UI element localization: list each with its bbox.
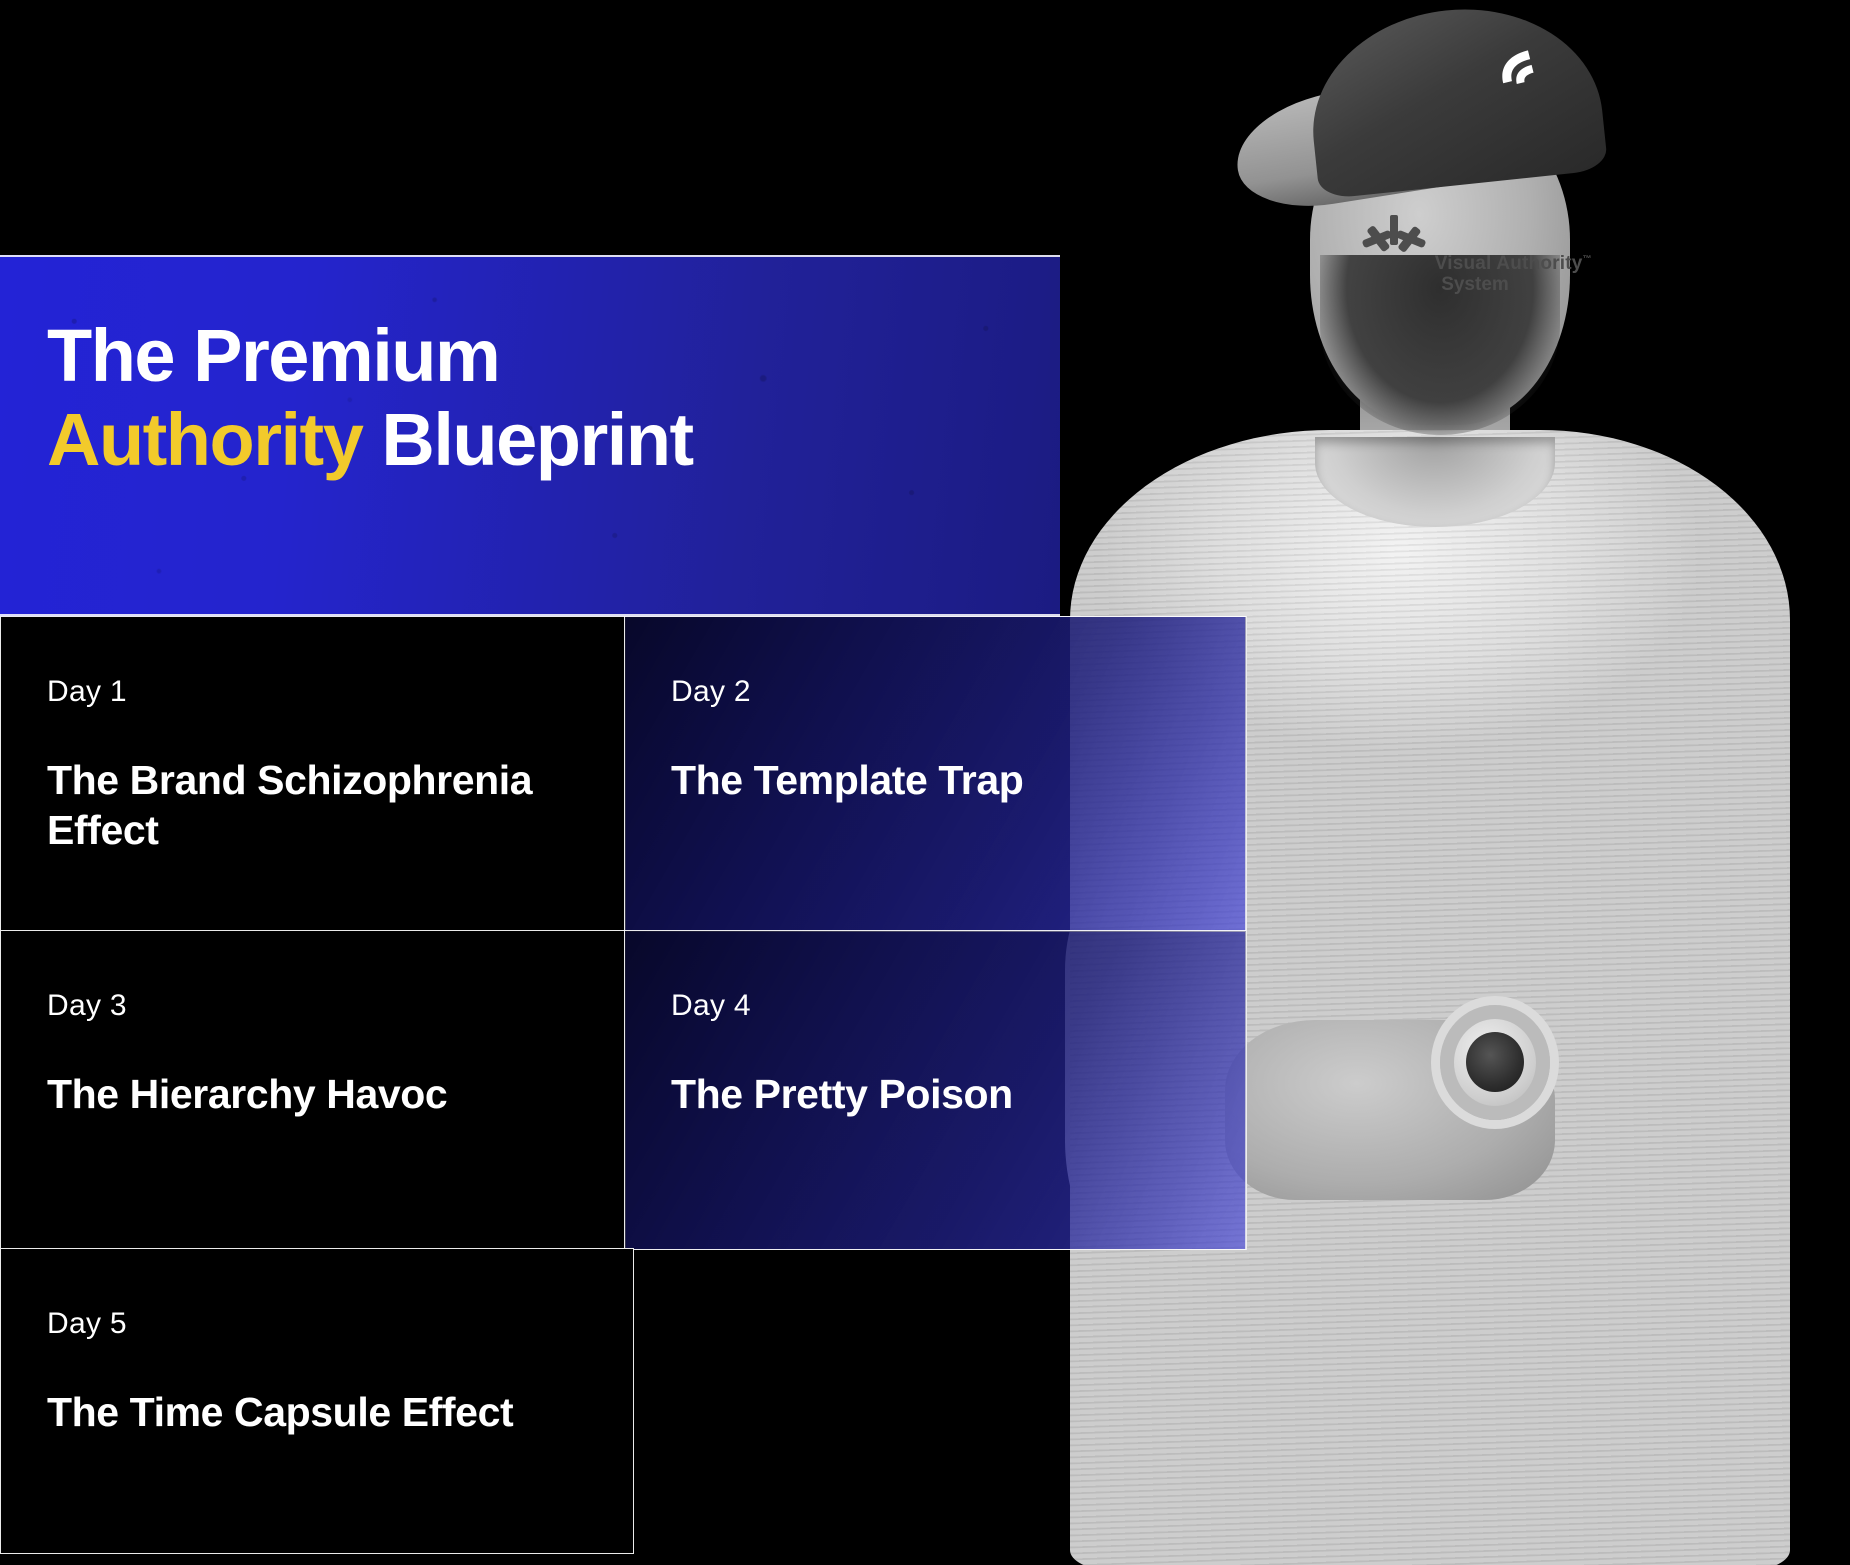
title-part-3: Blueprint — [362, 398, 692, 481]
shirt-logo-line1: Visual Authority — [1435, 253, 1583, 274]
day-label: Day 3 — [47, 989, 579, 1023]
day-label: Day 4 — [671, 989, 1200, 1023]
day-card-2[interactable]: Day 2 The Template Trap — [624, 616, 1247, 932]
trademark-symbol: ™ — [1583, 254, 1592, 264]
cap-crown — [1302, 0, 1609, 200]
day-label: Day 1 — [47, 675, 579, 709]
header-banner: The Premium Authority Blueprint — [0, 255, 1060, 616]
shirt-logo-line2: System — [1355, 274, 1595, 295]
page-title: The Premium Authority Blueprint — [47, 317, 1027, 480]
day-card-4[interactable]: Day 4 The Pretty Poison — [624, 930, 1247, 1250]
day-title: The Template Trap — [671, 755, 1200, 805]
day-title: The Hierarchy Havoc — [47, 1069, 579, 1119]
day-title: The Pretty Poison — [671, 1069, 1200, 1119]
title-accent-word: Authority — [47, 398, 362, 481]
day-label: Day 5 — [47, 1307, 587, 1341]
shirt-brand-logo: Visual Authority™ System — [1355, 215, 1595, 335]
day-card-5[interactable]: Day 5 The Time Capsule Effect — [0, 1248, 634, 1554]
title-part-1: The Premium — [47, 314, 499, 397]
day-card-3[interactable]: Day 3 The Hierarchy Havoc — [0, 930, 626, 1250]
day-title: The Brand Schizophrenia Effect — [47, 755, 579, 855]
starburst-icon — [1358, 215, 1430, 263]
day-title: The Time Capsule Effect — [47, 1387, 587, 1437]
day-card-1[interactable]: Day 1 The Brand Schizophrenia Effect — [0, 616, 626, 932]
day-card-grid: Day 1 The Brand Schizophrenia Effect Day… — [0, 616, 1247, 1554]
day-label: Day 2 — [671, 675, 1200, 709]
photo-wristwatch — [1440, 1005, 1550, 1120]
cap-logo-icon — [1487, 40, 1550, 101]
poster-stage: Visual Authority™ System The Premium Aut… — [0, 0, 1850, 1565]
